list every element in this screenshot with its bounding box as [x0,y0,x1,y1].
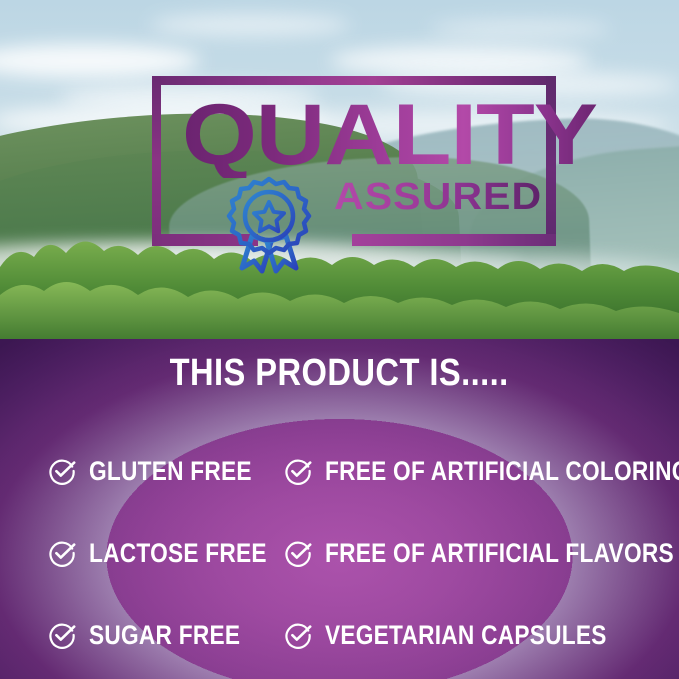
check-circle-icon [284,621,312,649]
feature-item-sugar-free: SUGAR FREE [0,620,270,651]
cloud [150,14,350,36]
product-badge-graphic: QUALITY ASSURED THIS PRODUCT IS..... [0,0,679,679]
check-circle-icon [48,457,76,485]
feature-item-gluten-free: GLUTEN FREE [0,456,270,487]
feature-label: SUGAR FREE [89,620,240,651]
frame-border-top [152,76,556,85]
feature-label: LACTOSE FREE [89,538,267,569]
check-circle-icon [284,457,312,485]
feature-item-free-of-artificial-coloring: FREE OF ARTIFICIAL COLORING [270,456,679,487]
check-circle-icon [284,539,312,567]
page-title: THIS PRODUCT IS..... [0,352,679,395]
quality-headline: QUALITY [182,92,597,178]
feature-label: FREE OF ARTIFICIAL COLORING [325,456,679,487]
feature-label: VEGETARIAN CAPSULES [325,620,607,651]
frame-border-bottom-right [352,234,556,246]
feature-item-lactose-free: LACTOSE FREE [0,538,270,569]
award-ribbon-icon [222,176,318,276]
assured-subheadline: ASSURED [334,178,542,216]
panel-title-text: THIS PRODUCT IS..... [170,352,509,395]
feature-row: SUGAR FREE VEGETARIAN CAPSULES [0,594,679,676]
feature-row: GLUTEN FREE FREE OF ARTIFICIAL COLORING [0,430,679,512]
feature-item-free-of-artificial-flavors: FREE OF ARTIFICIAL FLAVORS [270,538,679,569]
feature-label: GLUTEN FREE [89,456,252,487]
feature-label: FREE OF ARTIFICIAL FLAVORS [325,538,674,569]
check-circle-icon [48,621,76,649]
cloud [430,20,610,38]
check-circle-icon [48,539,76,567]
frame-border-left [152,76,161,246]
feature-list: GLUTEN FREE FREE OF ARTIFICIAL COLORING [0,430,679,676]
feature-row: LACTOSE FREE FREE OF ARTIFICIAL FLAVORS [0,512,679,594]
feature-item-vegetarian-capsules: VEGETARIAN CAPSULES [270,620,679,651]
